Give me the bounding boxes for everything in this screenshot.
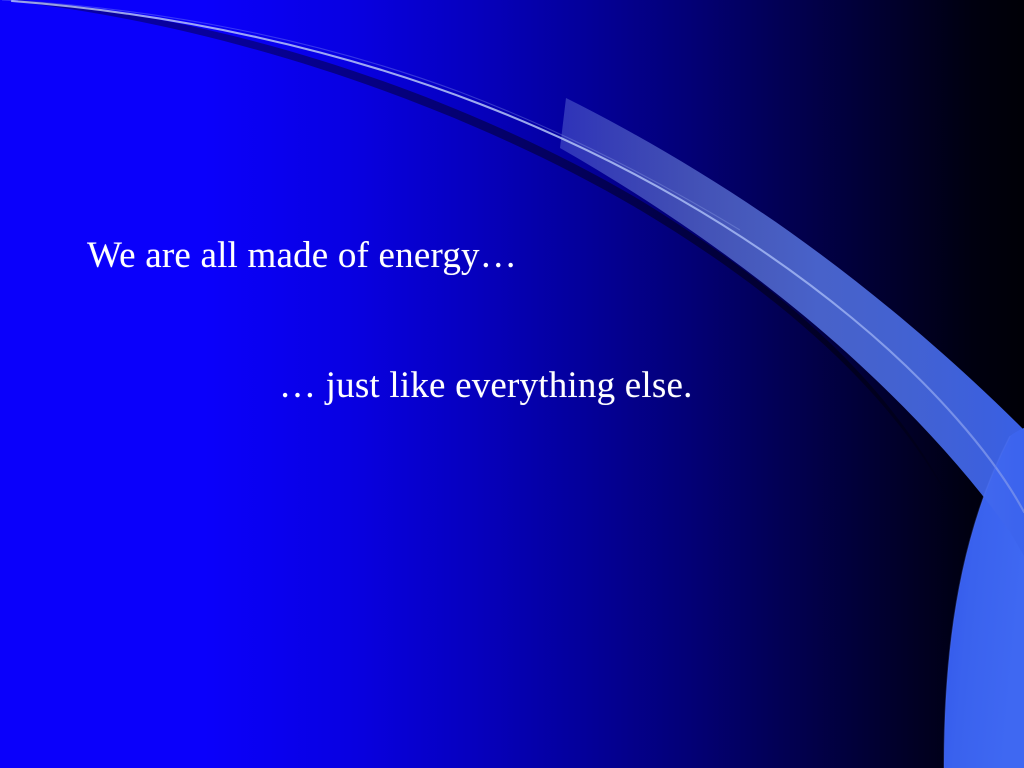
slide-body-line-1: We are all made of energy… — [87, 237, 517, 274]
presentation-slide: We are all made of energy… … just like e… — [0, 0, 1024, 768]
slide-text-block: We are all made of energy… … just like e… — [0, 0, 1024, 768]
slide-body-line-2: … just like everything else. — [279, 367, 693, 404]
